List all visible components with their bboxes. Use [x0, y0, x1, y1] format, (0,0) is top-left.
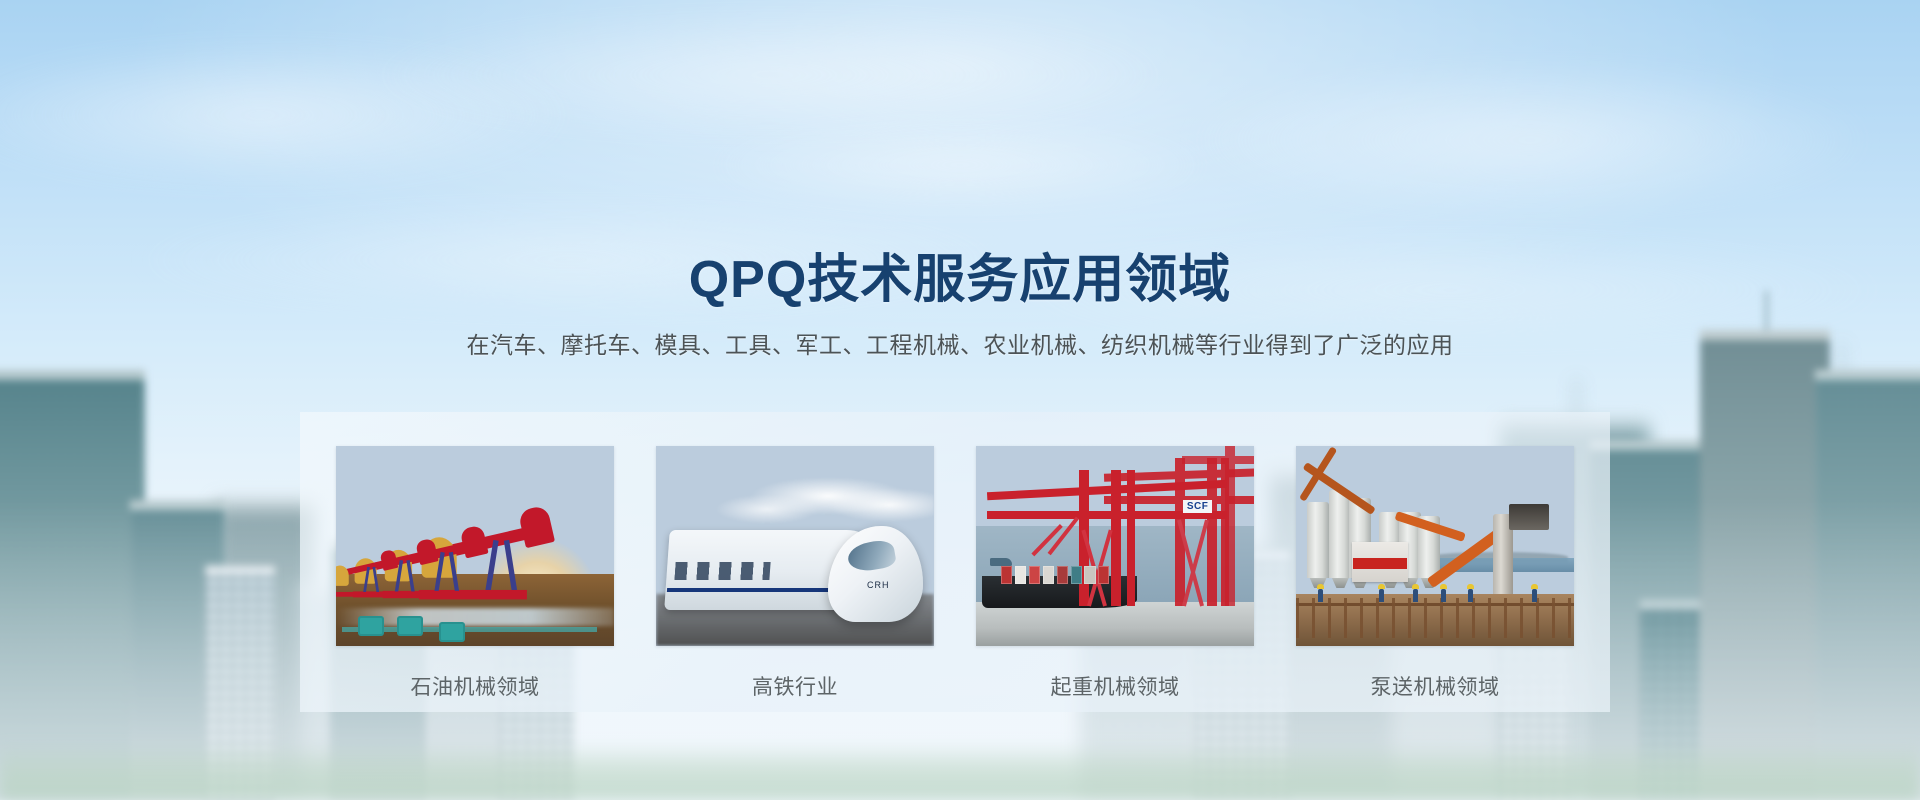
train-windows	[675, 562, 771, 580]
shipping-container	[1071, 566, 1082, 584]
card-high-speed-rail[interactable]: CRH 高铁行业	[656, 446, 934, 701]
port-container-crane-photo: SCF	[976, 446, 1254, 646]
train-livery-mark: CRH	[867, 580, 890, 590]
card-caption: 起重机械领域	[976, 671, 1254, 701]
card-caption: 泵送机械领域	[1296, 671, 1574, 701]
worker	[1532, 589, 1537, 602]
rebar-grid	[1296, 598, 1574, 638]
worker	[1441, 589, 1446, 602]
worker	[1318, 589, 1323, 602]
oil-pumpjacks-photo	[336, 446, 614, 646]
shipping-container	[1043, 566, 1054, 584]
shipping-container	[1084, 566, 1095, 584]
crane-operator-mark: SCF	[1183, 500, 1213, 513]
shipping-container	[1015, 566, 1026, 584]
wellhead-valve	[358, 616, 384, 636]
card-oil-machinery[interactable]: 石油机械领域	[336, 446, 614, 701]
worker	[1413, 589, 1418, 602]
worker	[1379, 589, 1384, 602]
wellhead-valve	[439, 622, 465, 642]
card-caption: 石油机械领域	[336, 671, 614, 701]
operator-cabin	[1509, 504, 1549, 530]
page-subtitle: 在汽车、摩托车、模具、工具、军工、工程机械、农业机械、纺织机械等行业得到了广泛的…	[0, 326, 1920, 360]
card-lifting-machinery[interactable]: SCF 起重机械领域	[976, 446, 1254, 701]
concrete-pump-plant-photo	[1296, 446, 1574, 646]
application-fields-panel: 石油机械领域 CRH 高铁行业	[300, 412, 1610, 712]
cement-silo	[1307, 502, 1329, 578]
red-banner	[1353, 558, 1407, 569]
page-title: QPQ技术服务应用领域	[0, 237, 1920, 312]
card-pumping-machinery[interactable]: 泵送机械领域	[1296, 446, 1574, 701]
worker	[1468, 589, 1473, 602]
site-office	[1352, 542, 1408, 582]
shipping-container	[1001, 566, 1012, 584]
shipping-container	[1029, 566, 1040, 584]
card-caption: 高铁行业	[656, 671, 934, 701]
gantry-crane	[1182, 446, 1254, 606]
shipping-container	[1057, 566, 1068, 584]
quay	[976, 602, 1254, 646]
shipping-container	[1098, 566, 1109, 584]
wellhead-valve	[397, 616, 423, 636]
high-speed-train-photo: CRH	[656, 446, 934, 646]
